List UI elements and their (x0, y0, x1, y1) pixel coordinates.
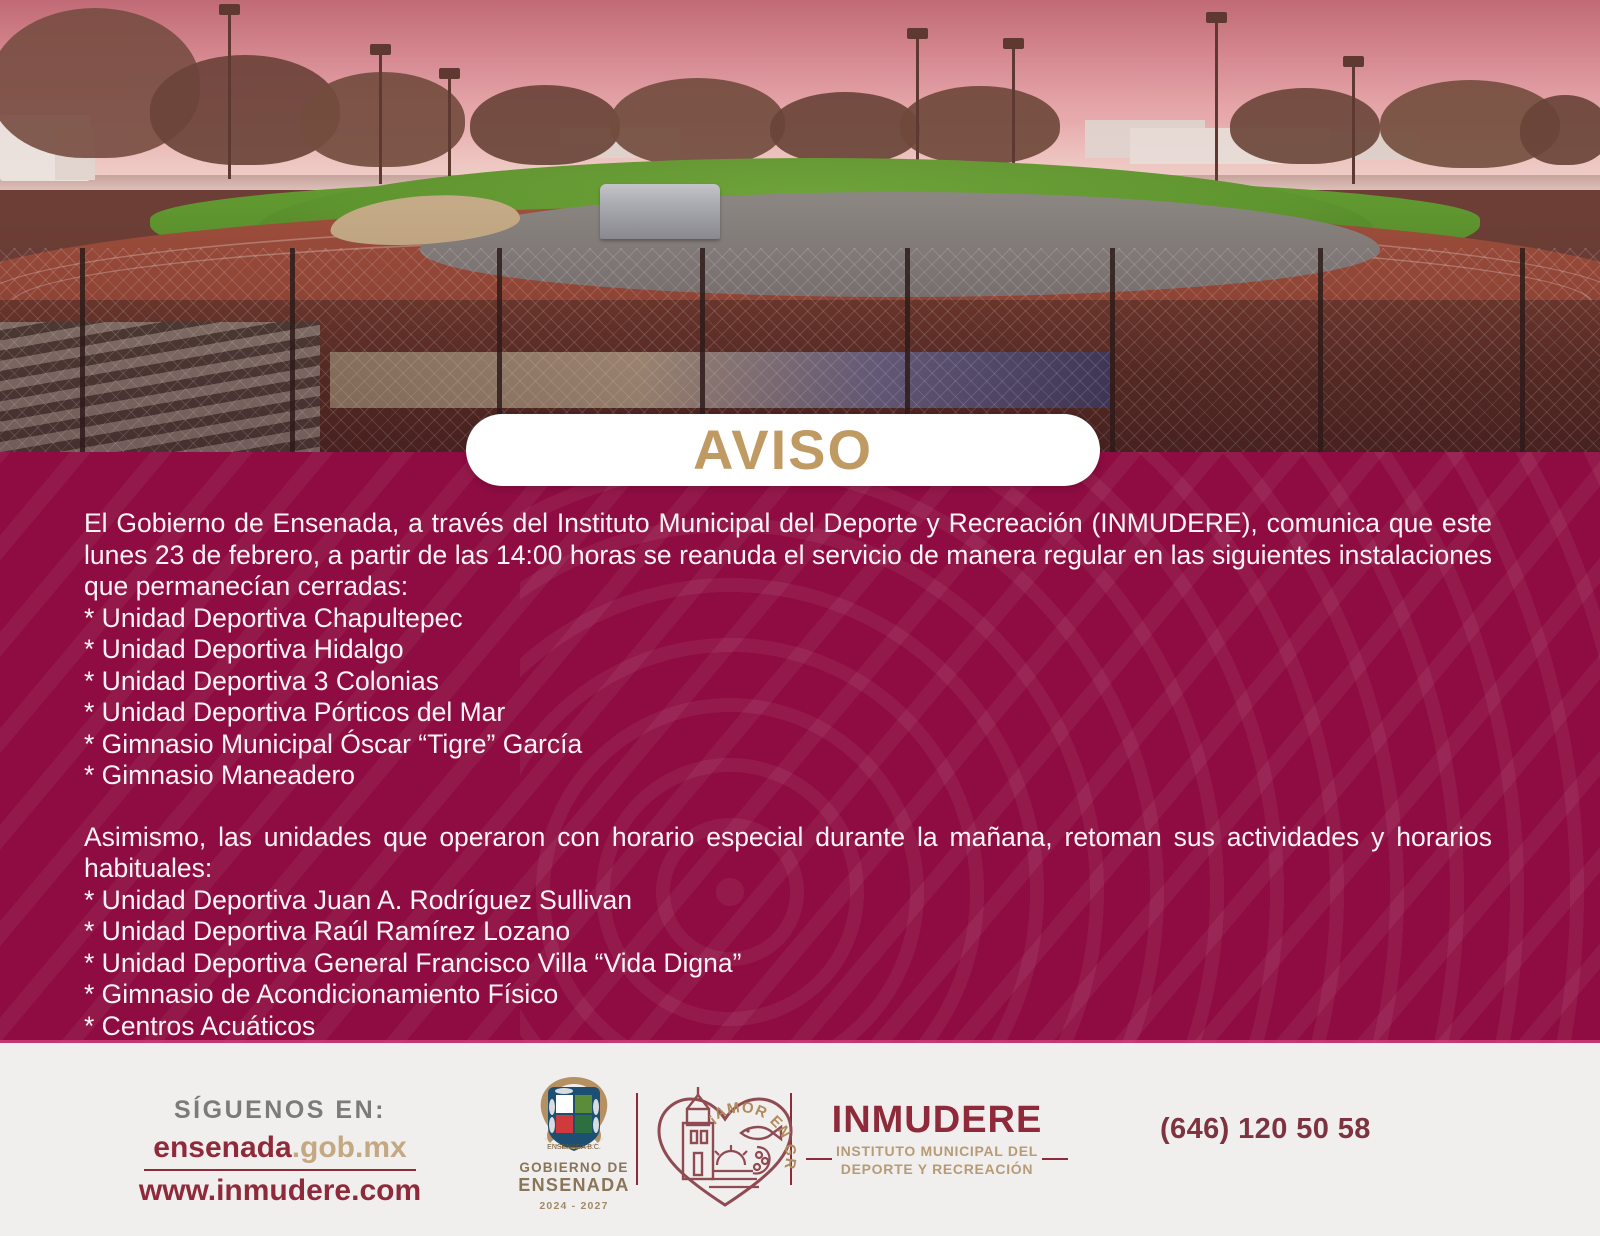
announcement-poster: El Gobierno de Ensenada, a través del In… (0, 0, 1600, 1236)
list-item: * Unidad Deportiva Juan A. Rodríguez Sul… (84, 885, 1492, 917)
website-ensenada-bold: ensenada (153, 1131, 291, 1164)
list-item: * Unidad Deportiva 3 Colonias (84, 666, 1492, 698)
contact-phone[interactable]: (646) 120 50 58 (1160, 1113, 1371, 1146)
photo-color-grade (0, 0, 1600, 453)
gov-years: 2024 - 2027 (500, 1200, 648, 1212)
list-item: * Unidad Deportiva Chapultepec (84, 603, 1492, 635)
announcement-text: El Gobierno de Ensenada, a través del In… (84, 508, 1492, 1043)
footer: SÍGUENOS EN: ensenada.gob.mx www.inmuder… (0, 1043, 1600, 1236)
inmudere-rule-left (806, 1158, 832, 1160)
inmudere-logo: INMUDERE INSTITUTO MUNICIPAL DEL DEPORTE… (812, 1101, 1062, 1178)
stadium-photo (0, 0, 1600, 453)
special-schedule-list: * Unidad Deportiva Juan A. Rodríguez Sul… (84, 885, 1492, 1043)
list-item: * Gimnasio Municipal Óscar “Tigre” Garcí… (84, 729, 1492, 761)
follow-us-label: SÍGUENOS EN: (115, 1095, 445, 1125)
website-ensenada[interactable]: ensenada.gob.mx (115, 1129, 445, 1167)
website-ensenada-domain: .gob.mx (292, 1131, 407, 1164)
aviso-banner: AVISO (466, 414, 1100, 486)
gov-line-1: GOBIERNO DE (500, 1160, 648, 1176)
list-item: * Centros Acuáticos (84, 1011, 1492, 1043)
footer-divider-left (636, 1093, 638, 1185)
aviso-title: AVISO (693, 422, 873, 478)
list-item: * Unidad Deportiva Raúl Ramírez Lozano (84, 916, 1492, 948)
follow-us-block: SÍGUENOS EN: ensenada.gob.mx www.inmuder… (115, 1095, 445, 1209)
list-item: * Unidad Deportiva Pórticos del Mar (84, 697, 1492, 729)
intro-paragraph: El Gobierno de Ensenada, a través del In… (84, 508, 1492, 603)
spacer (84, 1043, 1492, 1044)
divider-line (144, 1169, 416, 1171)
inmudere-sub-1: INSTITUTO MUNICIPAL DEL (812, 1143, 1062, 1161)
spacer (84, 792, 1492, 822)
inmudere-sub-2: DEPORTE Y RECREACIÓN (812, 1161, 1062, 1179)
announcement-body: El Gobierno de Ensenada, a través del In… (0, 452, 1600, 1043)
gov-line-2: ENSENADA (500, 1176, 648, 1196)
inmudere-name: INMUDERE (812, 1101, 1062, 1139)
list-item: * Unidad Deportiva General Francisco Vil… (84, 948, 1492, 980)
closed-facilities-list: * Unidad Deportiva Chapultepec * Unidad … (84, 603, 1492, 792)
list-item: * Gimnasio de Acondicionamiento Físico (84, 979, 1492, 1011)
gobierno-ensenada-seal: ENSENADA B.C. GOBIERNO DE ENSENADA 2024 … (500, 1071, 648, 1221)
inmudere-rule-right (1042, 1158, 1068, 1160)
heart-emblem-amor-en-grande-icon: ¡AMOR EN GRANDE! (645, 1081, 805, 1209)
website-inmudere[interactable]: www.inmudere.com (115, 1172, 445, 1210)
ensenada-coat-of-arms-icon: ENSENADA B.C. (528, 1071, 620, 1157)
list-item: * Unidad Deportiva Hidalgo (84, 634, 1492, 666)
second-intro-paragraph: Asimismo, las unidades que operaron con … (84, 822, 1492, 885)
list-item: * Gimnasio Maneadero (84, 760, 1492, 792)
svg-text:ENSENADA B.C.: ENSENADA B.C. (547, 1144, 601, 1151)
